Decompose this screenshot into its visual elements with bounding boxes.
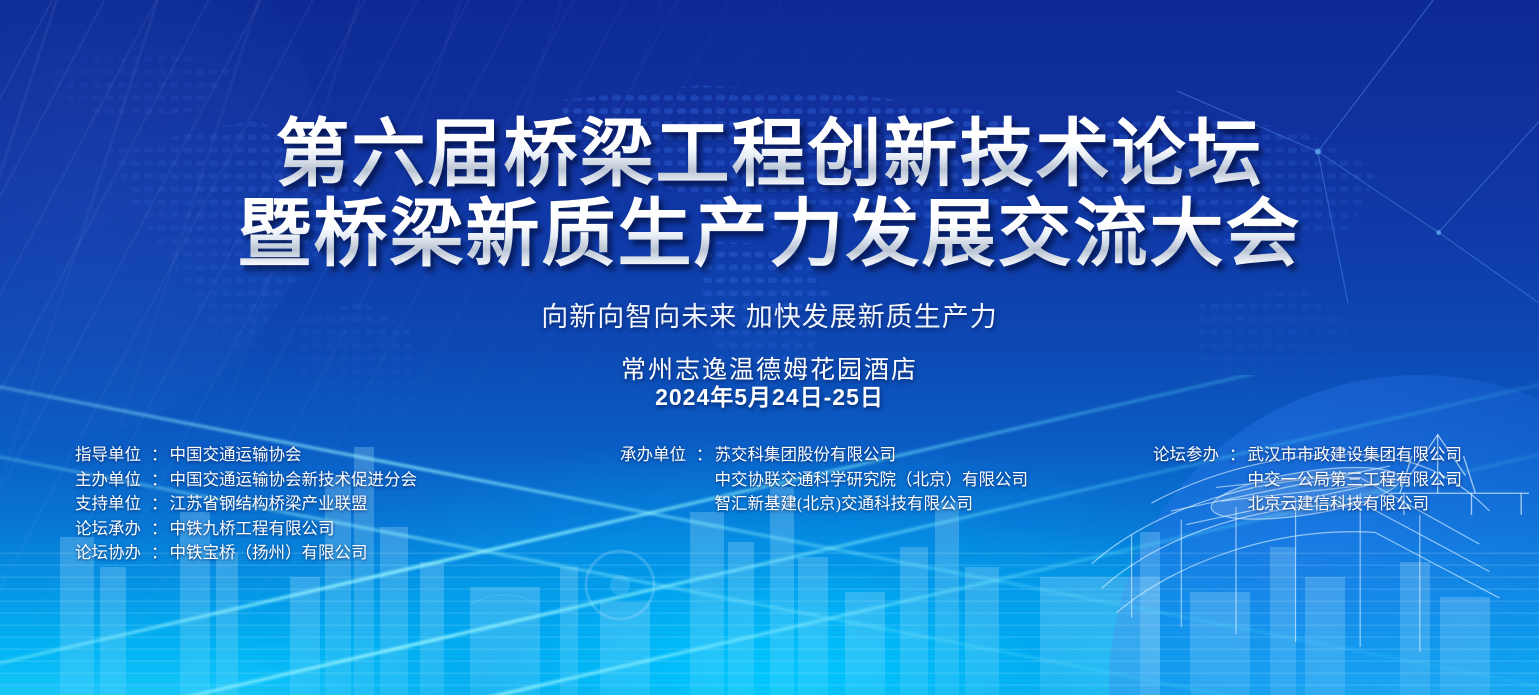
colon: ： [151, 517, 168, 542]
organization-value: 武汉市市政建设集团有限公司 [1248, 443, 1463, 468]
event-dates: 2024年5月24日-25日 [0, 378, 1539, 412]
organization-row: 论坛参办 ： 北京云建信科技有限公司 [1153, 492, 1462, 517]
organization-row: 指导单位 ： 中国交通运输协会 [75, 443, 417, 468]
banner-content: 第六届桥梁工程创新技术论坛 暨桥梁新质生产力发展交流大会 向新向智向未来 加快发… [0, 0, 1539, 695]
organization-value: 江苏省钢结构桥梁产业联盟 [170, 492, 368, 517]
title-line-2: 暨桥梁新质生产力发展交流大会 [0, 194, 1539, 274]
organizations-left-column: 指导单位 ： 中国交通运输协会 主办单位 ： 中国交通运输协会新技术促进分会 支… [75, 443, 417, 566]
organization-label: 指导单位 [75, 443, 151, 468]
colon: ： [696, 443, 713, 468]
organization-row: 承办单位 ： 中交协联交通科学研究院（北京）有限公司 [620, 468, 1028, 493]
organization-row: 支持单位 ： 江苏省钢结构桥梁产业联盟 [75, 492, 417, 517]
organization-row: 主办单位 ： 中国交通运输协会新技术促进分会 [75, 468, 417, 493]
organization-row: 论坛协办 ： 中铁宝桥（扬州）有限公司 [75, 541, 417, 566]
organization-row: 承办单位 ： 智汇新基建(北京)交通科技有限公司 [620, 492, 1028, 517]
organization-row: 论坛参办 ： 中交一公局第三工程有限公司 [1153, 468, 1462, 493]
organization-value: 中国交通运输协会新技术促进分会 [170, 468, 418, 493]
organization-lists: 指导单位 ： 中国交通运输协会 主办单位 ： 中国交通运输协会新技术促进分会 支… [0, 443, 1539, 573]
colon: ： [151, 492, 168, 517]
organization-value: 苏交科集团股份有限公司 [715, 443, 897, 468]
colon: ： [151, 468, 168, 493]
subtitle: 向新向智向未来 加快发展新质生产力 [0, 295, 1539, 334]
organization-label: 承办单位 [620, 443, 696, 468]
colon: ： [1229, 443, 1246, 468]
colon: ： [151, 443, 168, 468]
organization-label: 支持单位 [75, 492, 151, 517]
organization-value: 智汇新基建(北京)交通科技有限公司 [715, 492, 974, 517]
organization-value: 中交协联交通科学研究院（北京）有限公司 [715, 468, 1029, 493]
organization-value: 中国交通运输协会 [170, 443, 302, 468]
organization-label: 论坛参办 [1153, 443, 1229, 468]
organization-label: 论坛承办 [75, 517, 151, 542]
conference-banner: 第六届桥梁工程创新技术论坛 暨桥梁新质生产力发展交流大会 向新向智向未来 加快发… [0, 0, 1539, 695]
organization-value: 中交一公局第三工程有限公司 [1248, 468, 1463, 493]
colon: ： [151, 541, 168, 566]
organization-label: 论坛协办 [75, 541, 151, 566]
title-line-1: 第六届桥梁工程创新技术论坛 [0, 114, 1539, 194]
organization-row: 论坛承办 ： 中铁九桥工程有限公司 [75, 517, 417, 542]
organization-row: 承办单位 ： 苏交科集团股份有限公司 [620, 443, 1028, 468]
organization-row: 论坛参办 ： 武汉市市政建设集团有限公司 [1153, 443, 1462, 468]
organization-value: 中铁九桥工程有限公司 [170, 517, 335, 542]
organization-label: 主办单位 [75, 468, 151, 493]
organizations-middle-column: 承办单位 ： 苏交科集团股份有限公司 承办单位 ： 中交协联交通科学研究院（北京… [620, 443, 1028, 517]
page-title: 第六届桥梁工程创新技术论坛 暨桥梁新质生产力发展交流大会 [0, 114, 1539, 274]
organizations-right-column: 论坛参办 ： 武汉市市政建设集团有限公司 论坛参办 ： 中交一公局第三工程有限公… [1153, 443, 1462, 517]
organization-value: 北京云建信科技有限公司 [1248, 492, 1430, 517]
organization-value: 中铁宝桥（扬州）有限公司 [170, 541, 368, 566]
